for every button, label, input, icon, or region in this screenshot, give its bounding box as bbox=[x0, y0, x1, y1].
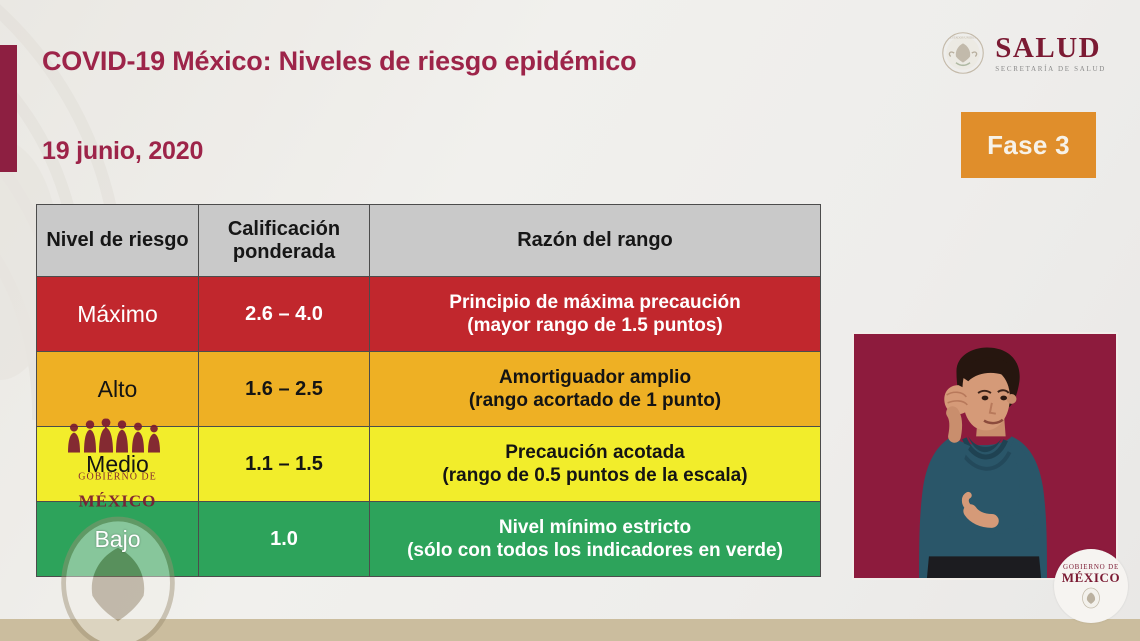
mexico-eagle-seal-icon: ESTADOS UNIDOS bbox=[941, 31, 985, 75]
column-header-razon-del-rango: Razón del rango bbox=[370, 205, 821, 277]
reason-line-2: (mayor rango de 1.5 puntos) bbox=[376, 314, 814, 337]
risk-level-alto: Alto bbox=[37, 352, 199, 427]
reason-line-1: Precaución acotada bbox=[376, 441, 814, 464]
reason-line-2: (rango acortado de 1 punto) bbox=[376, 389, 814, 412]
gobierno-de-mexico-circle-logo: GOBIERNO DE MÉXICO bbox=[1054, 549, 1128, 623]
mexico-eagle-seal-icon bbox=[1081, 587, 1101, 609]
salud-subtitle: SECRETARÍA DE SALUD bbox=[995, 66, 1106, 73]
reason-medio: Precaución acotada (rango de 0.5 puntos … bbox=[370, 427, 821, 502]
salud-logo: ESTADOS UNIDOS SALUD SECRETARÍA DE SALUD bbox=[941, 31, 1106, 75]
column-header-calificacion-ponderada: Calificación ponderada bbox=[199, 205, 370, 277]
risk-level-bajo-label: Bajo bbox=[94, 526, 140, 552]
interpreter-figure bbox=[854, 334, 1116, 578]
risk-levels-table: Nivel de riesgo Calificación ponderada R… bbox=[36, 204, 821, 577]
reason-line-2: (rango de 0.5 puntos de la escala) bbox=[376, 464, 814, 487]
page-title: COVID-19 México: Niveles de riesgo epidé… bbox=[42, 46, 636, 77]
slide-canvas: COVID-19 México: Niveles de riesgo epidé… bbox=[0, 0, 1140, 641]
score-bajo: 1.0 bbox=[199, 502, 370, 577]
risk-level-maximo: Máximo bbox=[37, 277, 199, 352]
table-row: Máximo 2.6 – 4.0 Principio de máxima pre… bbox=[37, 277, 821, 352]
score-maximo: 2.6 – 4.0 bbox=[199, 277, 370, 352]
phase-badge: Fase 3 bbox=[961, 112, 1096, 178]
table-row: Alto 1.6 – 2.5 Amortiguador amplio (rang… bbox=[37, 352, 821, 427]
risk-level-bajo: Bajo bbox=[37, 502, 199, 577]
reason-alto: Amortiguador amplio (rango acortado de 1… bbox=[370, 352, 821, 427]
table-row: Bajo bbox=[37, 502, 821, 577]
left-accent-bar bbox=[0, 45, 17, 172]
score-alto: 1.6 – 2.5 bbox=[199, 352, 370, 427]
sign-language-interpreter-video[interactable] bbox=[852, 332, 1118, 580]
column-header-nivel-de-riesgo: Nivel de riesgo bbox=[37, 205, 199, 277]
reason-maximo: Principio de máxima precaución (mayor ra… bbox=[370, 277, 821, 352]
gob-circle-line-2: MÉXICO bbox=[1062, 571, 1121, 585]
reason-line-1: Amortiguador amplio bbox=[376, 366, 814, 389]
phase-badge-label: Fase 3 bbox=[987, 130, 1070, 161]
reason-bajo: Nivel mínimo estricto (sólo con todos lo… bbox=[370, 502, 821, 577]
salud-wordmark: SALUD bbox=[995, 34, 1106, 63]
table-header-row: Nivel de riesgo Calificación ponderada R… bbox=[37, 205, 821, 277]
score-medio: 1.1 – 1.5 bbox=[199, 427, 370, 502]
reason-line-1: Principio de máxima precaución bbox=[376, 291, 814, 314]
slide-date: 19 junio, 2020 bbox=[42, 137, 203, 166]
reason-line-1: Nivel mínimo estricto bbox=[376, 516, 814, 539]
footer-bar bbox=[0, 619, 1140, 641]
table-row: Medio 1.1 – 1.5 Precaución acotada (rang… bbox=[37, 427, 821, 502]
svg-text:ESTADOS UNIDOS: ESTADOS UNIDOS bbox=[950, 35, 976, 39]
risk-level-medio: Medio bbox=[37, 427, 199, 502]
reason-line-2: (sólo con todos los indicadores en verde… bbox=[376, 539, 814, 562]
